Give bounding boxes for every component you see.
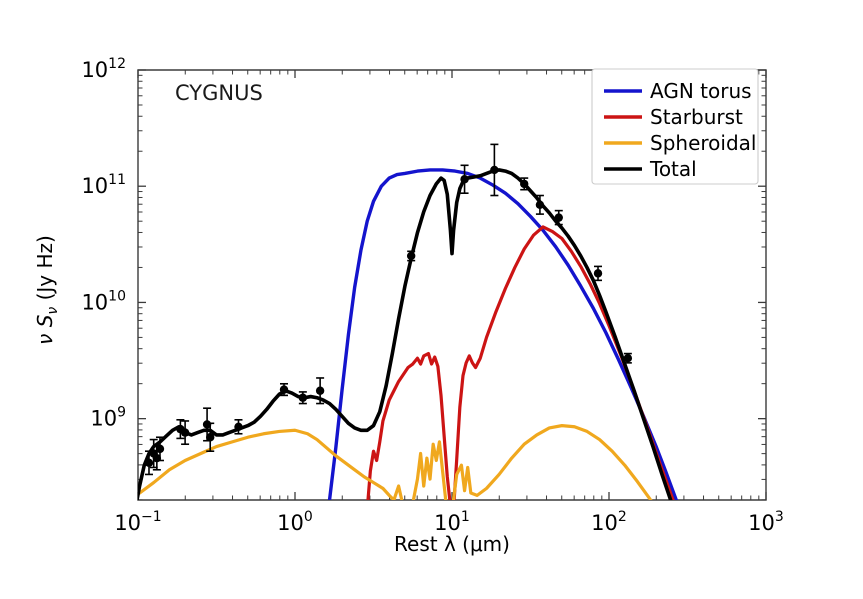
y-axis-label: ν Sν (Jy Hz): [33, 235, 61, 345]
legend-label: Spheroidal: [650, 131, 756, 155]
sed-plot: 10−1100101102103109101010111012 AGN toru…: [0, 0, 863, 599]
figure-container: 10−1100101102103109101010111012 AGN toru…: [0, 0, 863, 599]
x-axis-label: Rest λ (μm): [394, 532, 510, 556]
legend-label: Total: [649, 157, 697, 181]
legend[interactable]: AGN torusStarburstSpheroidalTotal: [592, 69, 758, 184]
legend-label: Starburst: [650, 105, 743, 129]
svg-text:ν Sν (Jy Hz): ν Sν (Jy Hz): [33, 235, 61, 345]
legend-label: AGN torus: [650, 79, 752, 103]
plot-annotation-cygnus: CYGNUS: [175, 81, 263, 105]
